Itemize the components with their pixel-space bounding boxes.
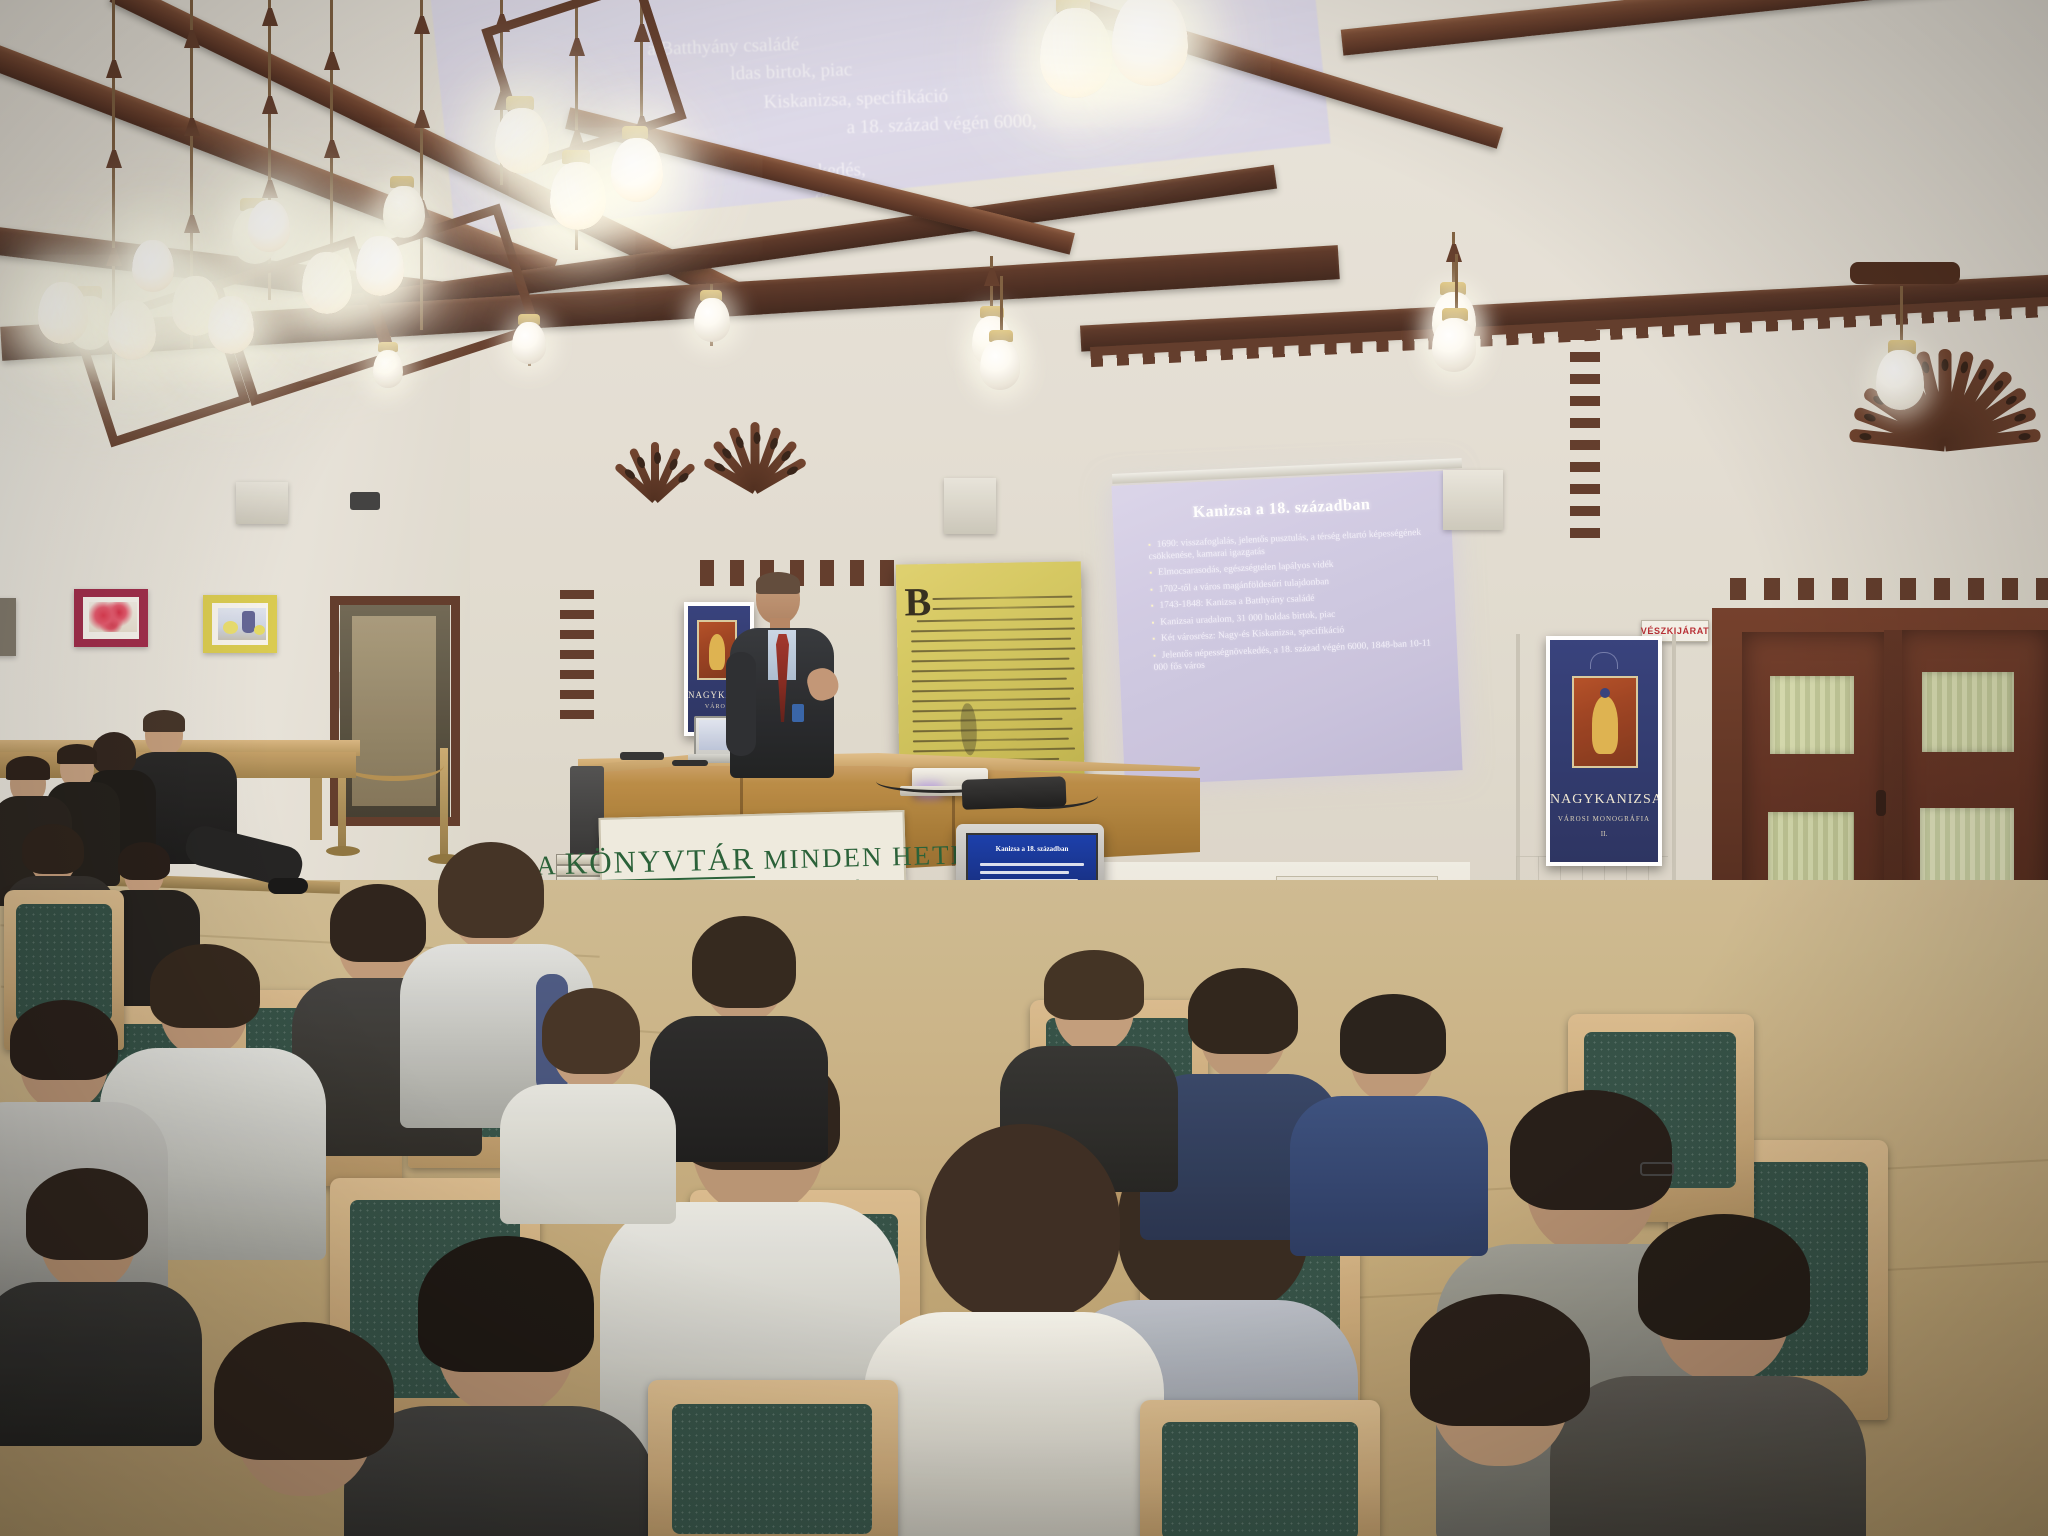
wall-speaker-right <box>1443 470 1503 530</box>
pendant-globe-8 <box>1112 0 1188 86</box>
pendant-globe-20 <box>132 240 174 292</box>
audience-hair-17 <box>1044 950 1144 1020</box>
audience-hair-16 <box>1340 994 1446 1074</box>
audience-hair-4 <box>6 756 50 780</box>
pendant-globe-9 <box>694 298 730 342</box>
audience-hair-2 <box>92 732 136 774</box>
audience-body-22 <box>500 1084 676 1224</box>
pendant-globe-stage-a <box>980 340 1020 390</box>
pendant-globe-6 <box>611 138 663 202</box>
pendant-globe-4 <box>495 108 549 174</box>
poster-nagykanizsa-monograph: NAGYKANIZSA VÁROSI MONOGRÁFIA II. <box>1546 636 1662 866</box>
poster-artwork <box>1572 676 1638 768</box>
audience-hair-19 <box>926 1124 1120 1320</box>
pendant-globe-10 <box>512 322 546 364</box>
audience-hair-20 <box>214 1322 394 1460</box>
door-window-upper-right <box>1922 672 2014 752</box>
pendant-globe-3 <box>383 186 425 238</box>
pendant-globe-stage-b <box>1432 318 1476 372</box>
desk-remote-control[interactable] <box>620 752 664 760</box>
audience-hair-10 <box>10 1000 118 1080</box>
watercolor-lemons-jug <box>203 595 277 653</box>
lecture-hall-photograph: a Batthyány családé ldas birtok, piac Ki… <box>0 0 2048 1536</box>
audience-hair-15 <box>1188 968 1298 1054</box>
audience-person-f9 <box>870 1140 1160 1536</box>
watercolor-red-flowers <box>74 589 148 647</box>
audience-body-19 <box>864 1312 1164 1536</box>
equipment-bag <box>962 776 1067 810</box>
audience-hair-23 <box>1410 1294 1590 1426</box>
pendant-globe-17 <box>208 296 254 354</box>
audience-hair-13 <box>1510 1090 1672 1210</box>
audience-hair-14 <box>418 1236 594 1372</box>
audience-hair-1 <box>143 710 185 732</box>
wall-projector-mount <box>350 492 380 510</box>
audience-body-16 <box>1290 1096 1488 1256</box>
audience-person-f14 <box>0 1180 200 1440</box>
banner-rest: MINDEN HETE <box>763 839 969 874</box>
slide-title: Kanizsa a 18. században <box>1112 492 1450 525</box>
slide-bullet-list: 1690: visszafoglalás, jelentős pusztulás… <box>1132 527 1444 680</box>
pendant-globe-11 <box>373 350 403 388</box>
presenter-badge <box>792 704 804 722</box>
audience-hair-18 <box>692 916 796 1008</box>
pendant-globe-5 <box>550 162 606 230</box>
presenter-left-arm <box>726 652 756 756</box>
pendant-globe-7 <box>1040 8 1112 98</box>
audience-hair-22 <box>542 988 640 1074</box>
audience-hair-8 <box>438 842 544 938</box>
audience-hair-6 <box>118 842 170 880</box>
pendant-globe-14 <box>38 282 88 344</box>
presenter-hair <box>756 572 800 594</box>
audience-hair-24 <box>26 1168 148 1260</box>
poster-title: NAGYKANIZSA <box>1550 792 1658 808</box>
audience-body-24 <box>0 1282 202 1446</box>
presenter <box>712 572 842 772</box>
carved-post-left <box>560 590 594 720</box>
chair-front-a[interactable] <box>648 1380 898 1536</box>
pendant-globe-15 <box>108 300 156 360</box>
edge-frame-far-left <box>0 598 16 656</box>
desk-pointer[interactable] <box>672 760 708 766</box>
audience-person-f6 <box>1290 1004 1490 1254</box>
pendant-globe-18 <box>302 252 352 314</box>
door-handle[interactable] <box>1876 790 1886 816</box>
audience-person-f12 <box>500 1000 680 1220</box>
audience-person-f13 <box>1340 1310 1640 1536</box>
door-window-upper-left <box>1770 676 1854 754</box>
audience-hair-3 <box>57 744 97 764</box>
audience-hair-5 <box>22 824 84 874</box>
audience-glasses <box>1640 1162 1674 1176</box>
pendant-globe-right-wall <box>1876 350 1924 410</box>
chair-front-b[interactable] <box>1140 1400 1380 1536</box>
pendant-globe-19 <box>356 236 404 296</box>
banner-line-1: A KÖNYVTÁR MINDEN HETE <box>536 835 970 882</box>
pendant-lamp-cluster <box>0 0 2048 470</box>
tv-slide-title: Kanizsa a 18. században <box>968 845 1096 853</box>
poster-arch-top <box>1590 652 1618 669</box>
rope-stanchion-base-a <box>326 846 360 856</box>
projection-screen: Kanizsa a 18. században 1690: visszafogl… <box>1111 470 1462 785</box>
door-lintel-carving <box>1730 578 2048 600</box>
document-initial-letter: B <box>904 578 932 625</box>
poster-subtitle: VÁROSI MONOGRÁFIA <box>1550 815 1658 823</box>
audience-hair-21 <box>1638 1214 1810 1340</box>
poster-volume: II. <box>1550 830 1658 838</box>
pendant-globe-21 <box>248 200 290 252</box>
wall-speaker-left <box>236 482 288 524</box>
wall-speaker-center <box>944 478 996 534</box>
